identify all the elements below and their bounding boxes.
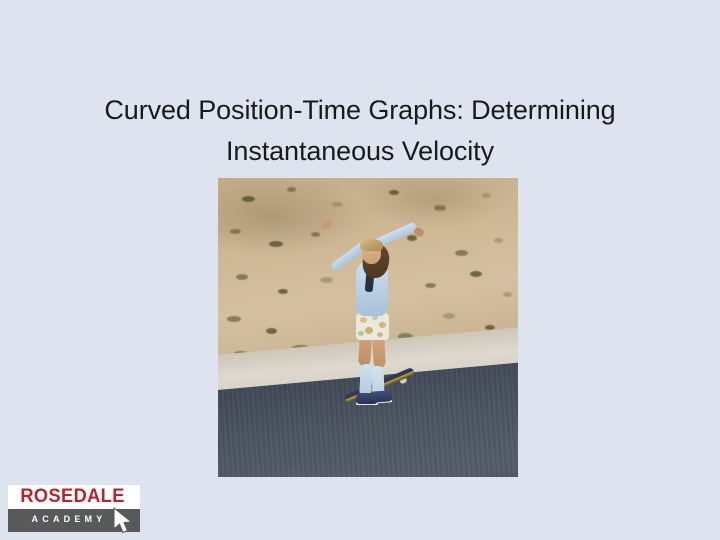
photo-brush xyxy=(434,205,446,211)
photo-brush xyxy=(227,316,241,322)
page-title: Curved Position-Time Graphs: Determining… xyxy=(50,90,670,172)
photo-road-shading xyxy=(218,466,518,477)
photo-brush xyxy=(425,283,436,288)
skater-shorts xyxy=(356,312,389,340)
photo-brush xyxy=(278,289,288,294)
photo-brush xyxy=(332,202,343,207)
photo-brush xyxy=(242,196,255,202)
slide-photo xyxy=(218,178,518,477)
photo-brush xyxy=(266,328,277,334)
shorts-floral-motif xyxy=(377,332,383,337)
skater-left-sock xyxy=(359,364,373,397)
photo-brush xyxy=(455,250,468,256)
skater-hair-top xyxy=(360,239,383,251)
cursor-arrow-icon xyxy=(111,507,137,534)
photo-brush xyxy=(311,232,320,237)
skater-right-thigh xyxy=(372,336,386,369)
skater-right-shoe xyxy=(370,390,393,403)
rosedale-academy-logo: ROSEDALE ACADEMY xyxy=(8,485,140,532)
skater-left-thigh xyxy=(358,336,372,367)
photo-skater xyxy=(322,222,422,437)
logo-subtitle: ACADEMY xyxy=(13,513,125,526)
photo-brush xyxy=(389,190,399,195)
photo-brush xyxy=(503,292,512,297)
photo-brush xyxy=(470,271,482,277)
photo-brush xyxy=(236,274,248,280)
photo-brush xyxy=(482,193,491,198)
photo-brush xyxy=(269,241,283,247)
photo-brush xyxy=(287,187,296,192)
logo-wordmark: ROSEDALE xyxy=(14,487,131,507)
photo-brush xyxy=(443,313,455,319)
shorts-floral-motif xyxy=(365,327,373,334)
photo-brush xyxy=(494,238,503,243)
photo-brush xyxy=(230,229,241,234)
presentation-slide: Curved Position-Time Graphs: Determining… xyxy=(0,0,720,540)
shorts-floral-motif xyxy=(358,331,364,336)
shorts-floral-motif xyxy=(379,322,386,328)
shorts-floral-motif xyxy=(360,317,367,323)
